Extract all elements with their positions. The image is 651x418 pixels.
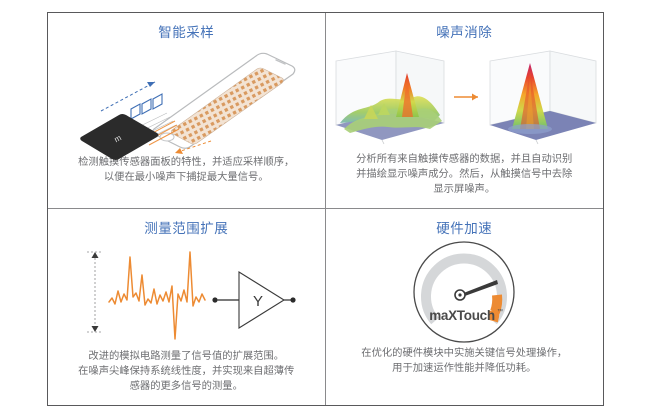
surface-plot-noisy	[336, 51, 444, 144]
feature-grid-figure: 智能采样	[0, 0, 651, 418]
blue-arrow-icon	[101, 82, 155, 111]
illustration-smart-sampling: m	[48, 41, 325, 156]
output-node-icon	[290, 297, 295, 302]
panel-measurement-range: 测量范围扩展	[48, 209, 326, 405]
input-node-icon	[212, 297, 217, 302]
panel-hardware-acceleration: 硬件加速	[326, 209, 604, 405]
panel-description-measurement-range: 改进的模拟电路测量了信号值的扩展范围。 在噪声尖峰保持系统线性度，并实现来自超薄…	[62, 350, 311, 395]
phone-sensor-diagram-icon: m	[71, 41, 301, 156]
amplifier-label: Y	[253, 293, 263, 310]
illustration-noise-suppression	[326, 41, 604, 153]
panel-description-noise-suppression: 分析所有来自触摸传感器的数据，并且自动识别 并描绘显示噪声成分。然后，从触摸信号…	[339, 153, 589, 198]
orange-waveform-icon	[109, 252, 205, 339]
surface-plot-clean	[490, 51, 596, 144]
amplifier-icon: Y	[239, 272, 284, 328]
gauge-brand-text: maXTouch	[429, 308, 495, 323]
panel-smart-sampling: 智能采样	[48, 13, 326, 209]
smartphone-icon	[153, 54, 295, 149]
panel-noise-suppression: 噪声消除	[326, 13, 604, 209]
panel-description-smart-sampling: 检测触摸传感器面板的特性，并适应采样顺序， 以便在最小噪声下捕捉最大量信号。	[62, 156, 311, 186]
panel-description-hardware-acceleration: 在优化的硬件模块中实施关键信号处理操作， 用于加速运作性能并降低功耗。	[339, 347, 589, 377]
speedometer-gauge-icon: maXTouch ™	[409, 237, 519, 347]
arrow-right-icon	[454, 93, 478, 100]
waveform-amplifier-diagram-icon: Y	[79, 244, 294, 344]
panel-title-hardware-acceleration: 硬件加速	[436, 221, 492, 237]
sample-bars-icon	[131, 94, 162, 119]
illustration-measurement-range: Y	[48, 237, 325, 350]
surface-plots-diagram-icon	[330, 45, 598, 150]
panel-grid: 智能采样	[47, 12, 604, 406]
panel-title-measurement-range: 测量范围扩展	[144, 221, 228, 237]
illustration-hardware-acceleration: maXTouch ™	[326, 237, 604, 347]
range-dimension-icon	[87, 252, 103, 332]
gauge-brand-trademark: ™	[497, 308, 503, 315]
gauge-brand-label: maXTouch ™	[429, 308, 503, 323]
controller-chip-icon: m	[80, 114, 158, 160]
panel-title-noise-suppression: 噪声消除	[436, 25, 492, 41]
panel-title-smart-sampling: 智能采样	[158, 25, 214, 41]
